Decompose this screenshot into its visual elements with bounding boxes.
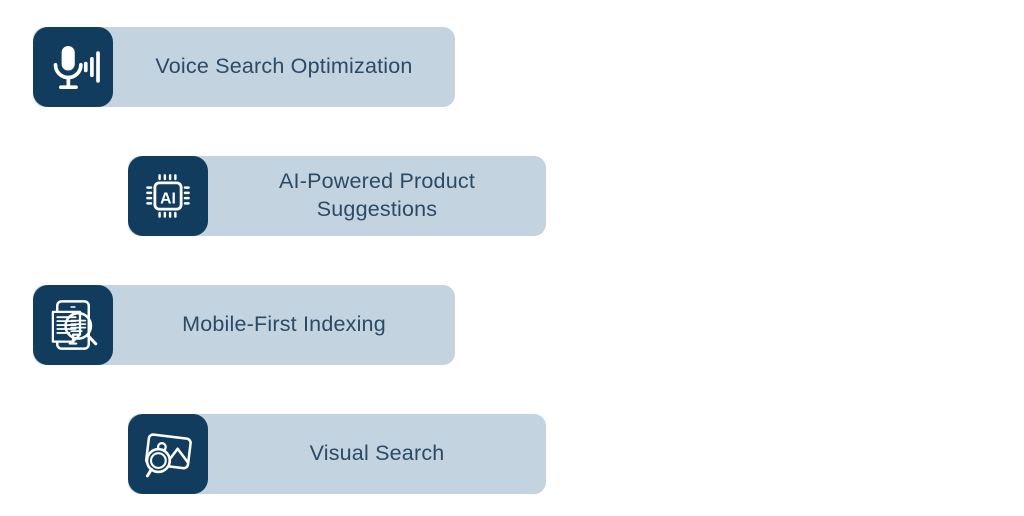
feature-label: Voice Search Optimization <box>113 53 455 81</box>
mobile-document-magnifier-icon <box>45 297 101 353</box>
feature-item-visual-search[interactable]: Visual Search <box>128 414 546 494</box>
feature-label: Mobile-First Indexing <box>113 311 455 339</box>
feature-list: Voice Search Optimization AI-Powered Pro… <box>0 0 1024 516</box>
feature-icon-tile[interactable]: AI <box>128 156 208 236</box>
feature-label: AI-Powered Product Suggestions <box>208 168 546 223</box>
feature-item-voice-search[interactable]: Voice Search Optimization <box>33 27 455 107</box>
feature-item-mobile-first-indexing[interactable]: Mobile-First Indexing <box>33 285 455 365</box>
microphone-voice-search-icon <box>45 39 101 95</box>
feature-item-ai-suggestions[interactable]: AI-Powered Product Suggestions <box>128 156 546 236</box>
svg-text:AI: AI <box>160 190 176 207</box>
ai-chip-icon: AI <box>140 168 196 224</box>
image-magnifier-icon <box>140 426 196 482</box>
feature-icon-tile[interactable] <box>128 414 208 494</box>
feature-icon-tile[interactable] <box>33 285 113 365</box>
feature-label: Visual Search <box>208 440 546 468</box>
feature-icon-tile[interactable] <box>33 27 113 107</box>
